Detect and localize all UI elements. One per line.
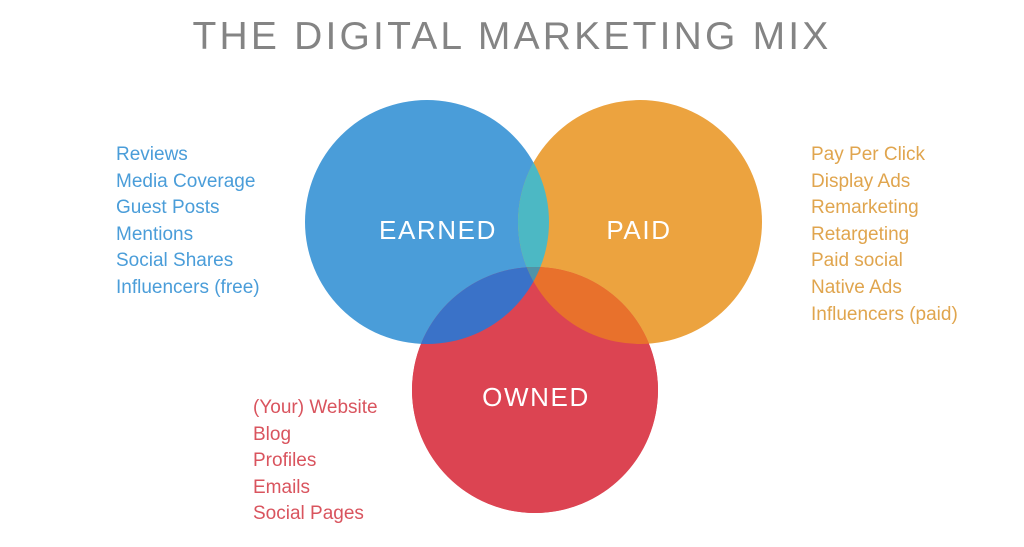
list-item: Pay Per Click	[811, 142, 958, 169]
earned-items-list: Reviews Media Coverage Guest Posts Menti…	[116, 142, 260, 302]
list-item: Mentions	[116, 222, 260, 249]
list-item: Social Pages	[253, 501, 378, 528]
owned-items-list: (Your) Website Blog Profiles Emails Soci…	[253, 395, 378, 528]
list-item: Profiles	[253, 448, 378, 475]
venn-label-paid: PAID	[606, 215, 671, 245]
venn-label-owned: OWNED	[482, 382, 590, 412]
venn-owned-core	[380, 345, 700, 525]
list-item: Blog	[253, 422, 378, 449]
list-item: Emails	[253, 475, 378, 502]
list-item: Display Ads	[811, 169, 958, 196]
list-item: Media Coverage	[116, 169, 260, 196]
paid-items-list: Pay Per Click Display Ads Remarketing Re…	[811, 142, 958, 328]
list-item: Social Shares	[116, 248, 260, 275]
list-item: Reviews	[116, 142, 260, 169]
list-item: Retargeting	[811, 222, 958, 249]
list-item: Paid social	[811, 248, 958, 275]
venn-label-earned: EARNED	[379, 215, 497, 245]
infographic-canvas: THE DIGITAL MARKETING MIX	[0, 0, 1024, 547]
list-item: Influencers (paid)	[811, 302, 958, 329]
list-item: Influencers (free)	[116, 275, 260, 302]
list-item: Guest Posts	[116, 195, 260, 222]
list-item: (Your) Website	[253, 395, 378, 422]
list-item: Remarketing	[811, 195, 958, 222]
list-item: Native Ads	[811, 275, 958, 302]
